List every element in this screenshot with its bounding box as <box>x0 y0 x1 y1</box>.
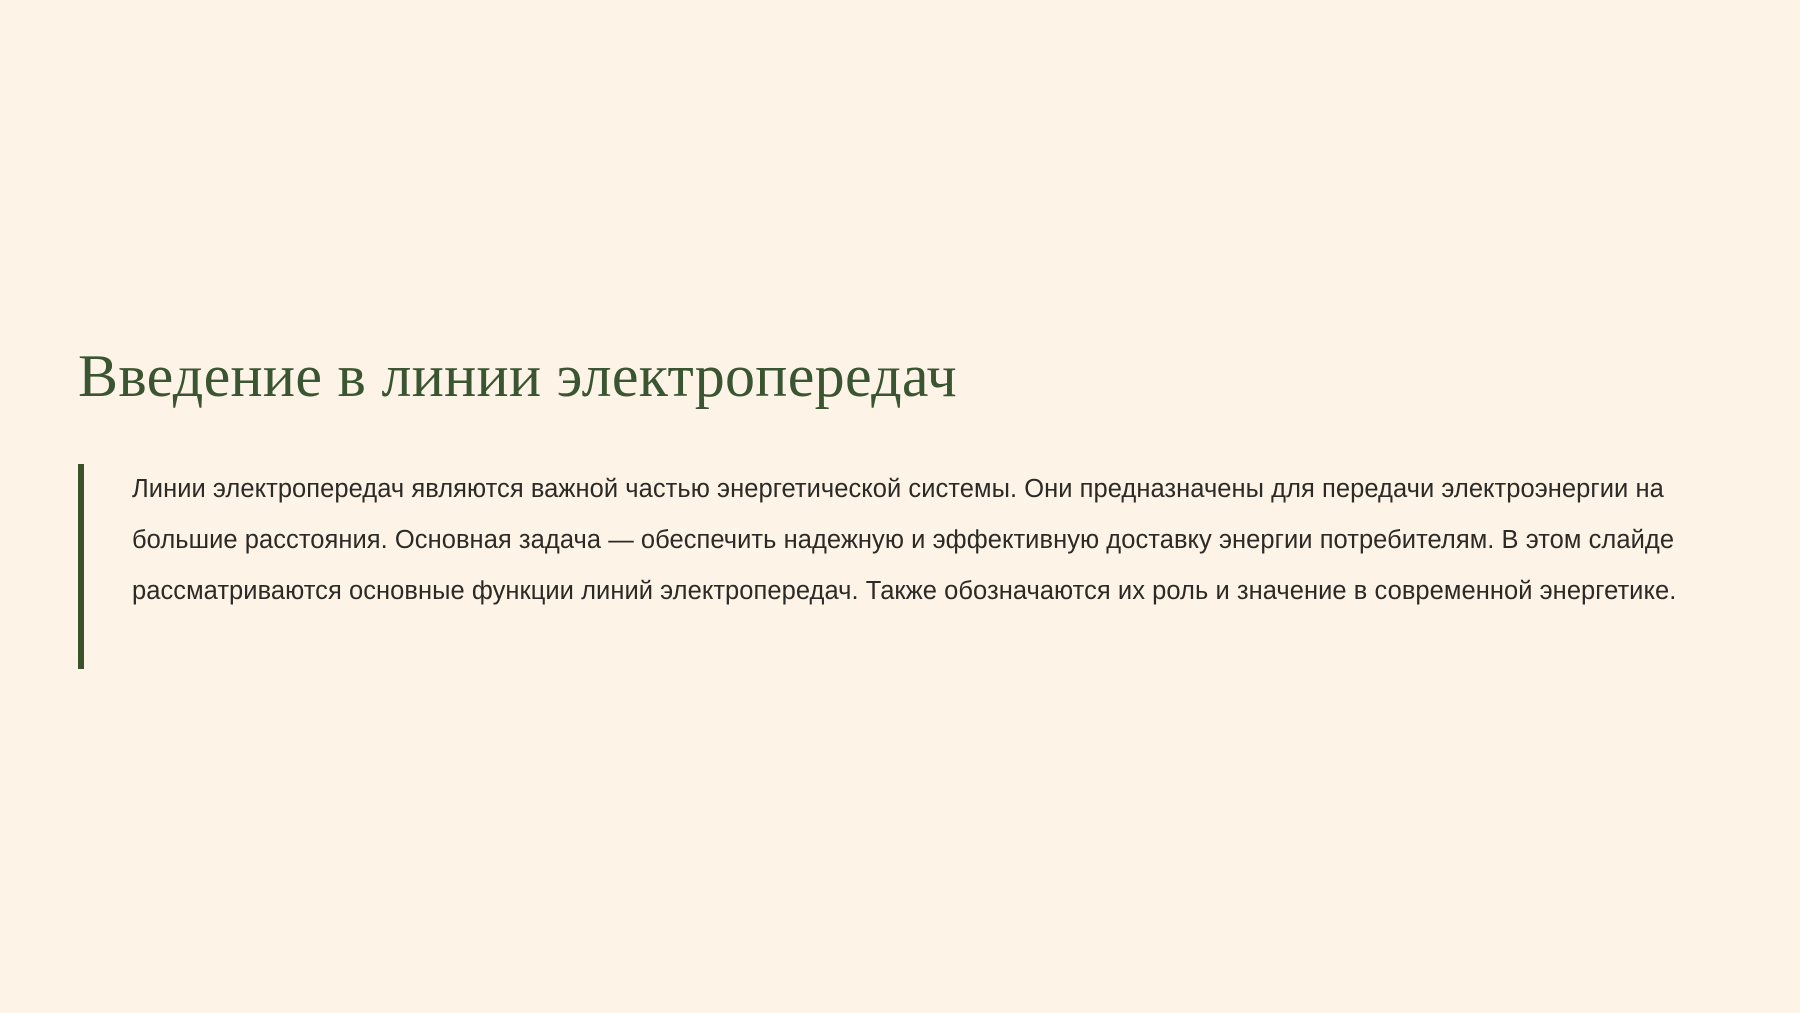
page-title: Введение в линии электропередач <box>78 343 1718 410</box>
slide-content-wrapper: Введение в линии электропередач Линии эл… <box>78 343 1718 669</box>
presentation-slide: Введение в линии электропередач Линии эл… <box>0 0 1800 1013</box>
body-callout-block: Линии электропередач являются важной час… <box>78 464 1718 669</box>
accent-bar <box>78 464 84 669</box>
body-paragraph: Линии электропередач являются важной час… <box>132 464 1718 617</box>
